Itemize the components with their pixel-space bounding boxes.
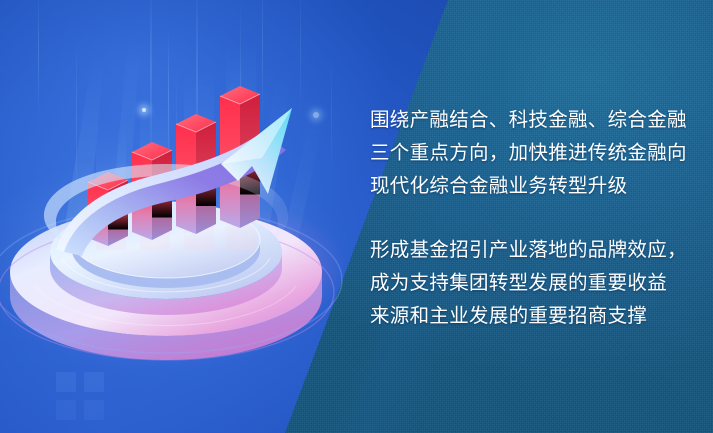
paragraph-outcome-line-2: 成为支持集团转型发展的重要收益 bbox=[370, 267, 690, 300]
paragraph-outcome-line-1: 形成基金招引产业落地的品牌效应， bbox=[370, 234, 690, 267]
paragraph-outcome: 形成基金招引产业落地的品牌效应， 成为支持集团转型发展的重要收益 来源和主业发展… bbox=[370, 234, 690, 333]
banner-copy: 围绕产融结合、科技金融、综合金融 三个重点方向，加快推进传统金融向 现代化综合金… bbox=[370, 104, 690, 333]
paragraph-outcome-line-3: 来源和主业发展的重要招商支撑 bbox=[370, 300, 690, 333]
paragraph-strategy-line-1: 围绕产融结合、科技金融、综合金融 bbox=[370, 104, 690, 137]
paragraph-strategy-line-3: 现代化综合金融业务转型升级 bbox=[370, 170, 690, 203]
paragraph-strategy-line-2: 三个重点方向，加快推进传统金融向 bbox=[370, 137, 690, 170]
paragraph-strategy: 围绕产融结合、科技金融、综合金融 三个重点方向，加快推进传统金融向 现代化综合金… bbox=[370, 104, 690, 203]
promo-banner: 围绕产融结合、科技金融、综合金融 三个重点方向，加快推进传统金融向 现代化综合金… bbox=[0, 0, 713, 433]
